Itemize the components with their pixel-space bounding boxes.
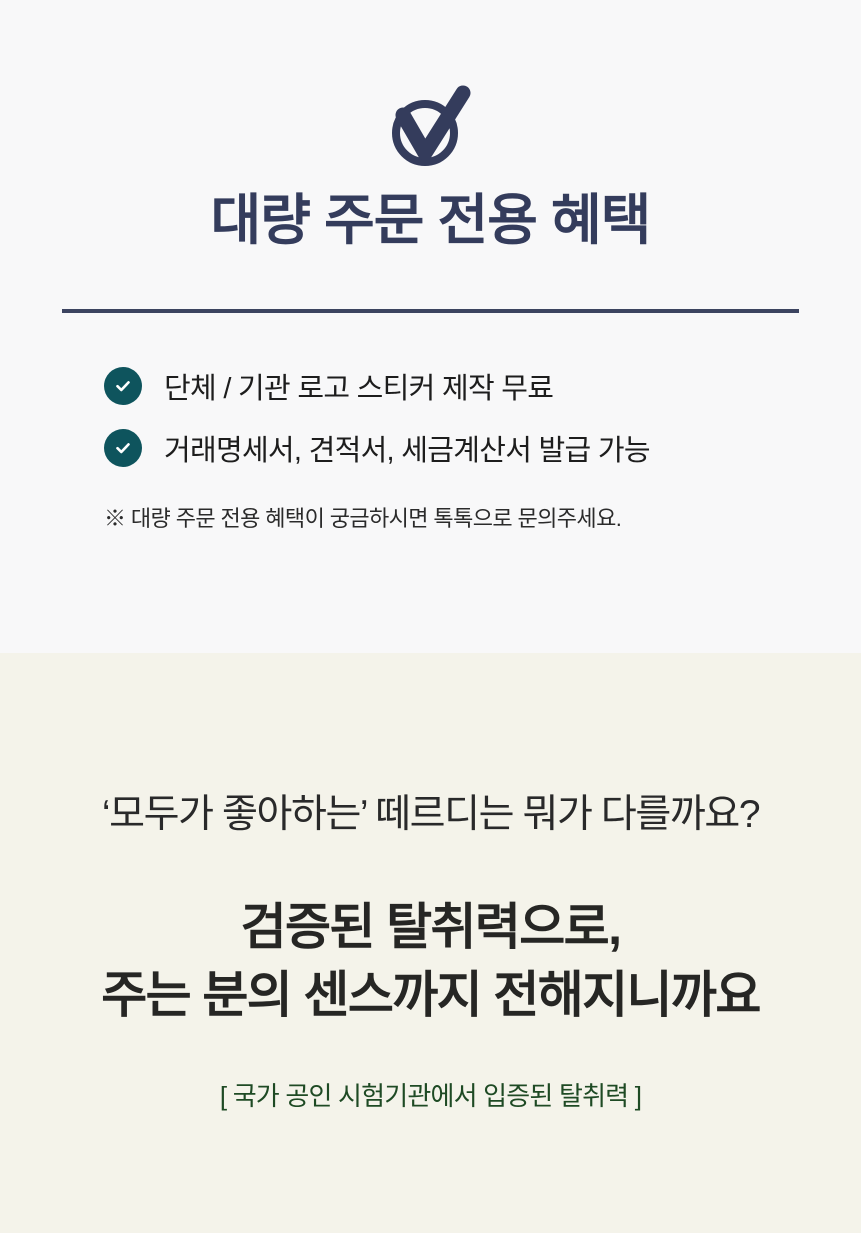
certification-badge: [ 국가 공인 시험기관에서 입증된 탈취력 ] xyxy=(0,1076,861,1113)
benefit-item-label: 단체 / 기관 로고 스티커 제작 무료 xyxy=(164,365,553,407)
list-item: 거래명세서, 견적서, 세금계산서 발급 가능 xyxy=(104,422,824,474)
brand-question: ‘모두가 좋아하는’ 떼르디는 뭐가 다를까요? xyxy=(0,783,861,839)
benefit-item-label: 거래명세서, 견적서, 세금계산서 발급 가능 xyxy=(164,427,650,469)
check-badge-icon xyxy=(104,367,142,405)
benefit-note: ※ 대량 주문 전용 혜택이 궁금하시면 톡톡으로 문의주세요. xyxy=(104,501,621,533)
check-badge-icon xyxy=(104,429,142,467)
brand-difference-section: ‘모두가 좋아하는’ 떼르디는 뭐가 다를까요? 검증된 탈취력으로, 주는 분… xyxy=(0,653,861,1233)
page-title: 대량 주문 전용 혜택 xyxy=(0,188,861,253)
brand-headline-line-2: 주는 분의 센스까지 전해지니까요 xyxy=(0,961,861,1029)
brand-headline-line-1: 검증된 탈취력으로, xyxy=(241,899,621,955)
bulk-order-benefit-section: 대량 주문 전용 혜택 단체 / 기관 로고 스티커 제작 무료 거래명세서, … xyxy=(0,0,861,653)
list-item: 단체 / 기관 로고 스티커 제작 무료 xyxy=(104,360,824,412)
title-divider xyxy=(62,309,799,313)
brand-headline: 검증된 탈취력으로, 주는 분의 센스까지 전해지니까요 xyxy=(0,893,861,1029)
circle-check-icon xyxy=(0,96,861,156)
benefit-list: 단체 / 기관 로고 스티커 제작 무료 거래명세서, 견적서, 세금계산서 발… xyxy=(104,360,824,484)
product-detail-page: 대량 주문 전용 혜택 단체 / 기관 로고 스티커 제작 무료 거래명세서, … xyxy=(0,0,861,1233)
